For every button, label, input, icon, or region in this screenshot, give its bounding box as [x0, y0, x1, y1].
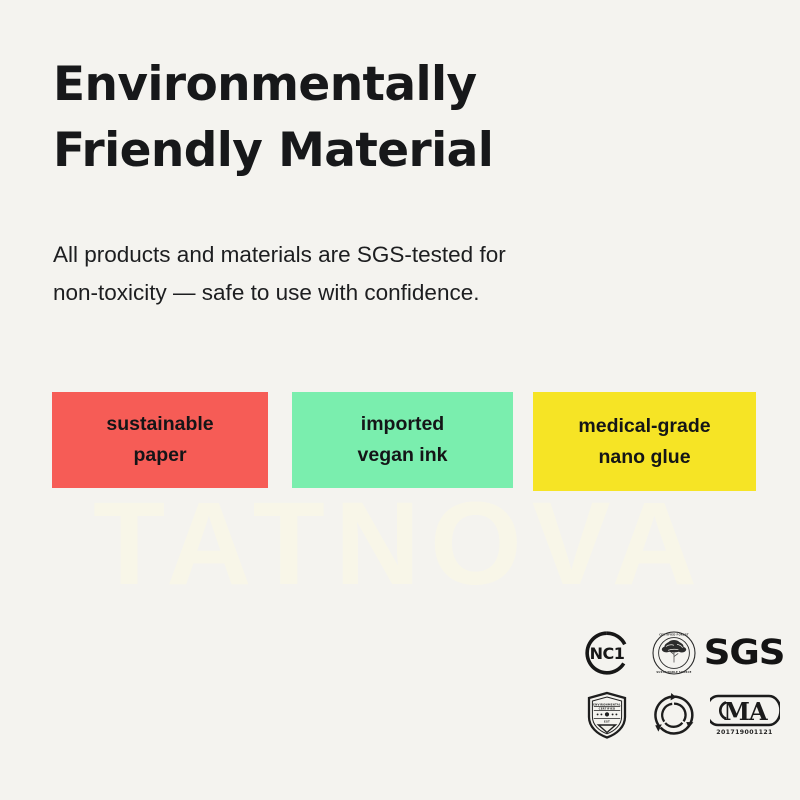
- svg-text:EST: EST: [604, 719, 610, 723]
- page-subtitle: All products and materials are SGS-teste…: [53, 236, 693, 312]
- sgs-wordmark-text: SGS: [704, 635, 785, 671]
- material-chip-label-line-1: medical-grade: [578, 411, 710, 442]
- material-chip-label-line-1: sustainable: [106, 409, 213, 440]
- forest-tree-seal-icon: CERTIFIED FOREST SUSTAINABLE SOURCE: [640, 623, 707, 683]
- certification-badge-group: NC1: [574, 623, 782, 747]
- cma-certification-mark-icon: MA 201719001121: [707, 683, 782, 747]
- svg-text:NC1: NC1: [590, 644, 625, 663]
- page-subtitle-line-1: All products and materials are SGS-teste…: [53, 236, 693, 274]
- sgs-wordmark-icon: SGS: [707, 623, 782, 683]
- svg-text:CERTIFIED: CERTIFIED: [599, 706, 616, 710]
- svg-text:MA: MA: [723, 697, 768, 726]
- material-chip-sustainable-paper: sustainable paper: [52, 392, 268, 488]
- svg-text:SUSTAINABLE SOURCE: SUSTAINABLE SOURCE: [656, 670, 691, 674]
- material-chip-label-line-1: imported: [358, 409, 448, 440]
- brand-watermark: TATNOVA: [0, 487, 800, 602]
- page-subtitle-line-2: non-toxicity — safe to use with confiden…: [53, 274, 693, 312]
- material-chip-medical-grade-nano-glue: medical-grade nano glue: [533, 392, 756, 491]
- poster-canvas: TATNOVA Environmentally Friendly Materia…: [0, 0, 800, 800]
- page-title-line-1: Environmentally: [53, 52, 733, 118]
- cma-certificate-number: 201719001121: [716, 729, 772, 736]
- material-chip-label-line-2: nano glue: [578, 442, 710, 473]
- svg-text:CERTIFIED FOREST: CERTIFIED FOREST: [659, 633, 689, 637]
- page-title-line-2: Friendly Material: [53, 118, 733, 184]
- shield-quality-badge-icon: ENVIRONMENTAL CERTIFIED EST: [574, 683, 640, 747]
- recycling-arrows-icon: [640, 683, 707, 747]
- svg-text:ENVIRONMENTAL: ENVIRONMENTAL: [593, 702, 621, 706]
- nc1-circle-mark-icon: NC1: [574, 623, 640, 683]
- material-chip-label-line-2: vegan ink: [358, 440, 448, 471]
- material-chip-label-line-2: paper: [106, 440, 213, 471]
- page-title: Environmentally Friendly Material: [53, 52, 733, 184]
- material-chip-imported-vegan-ink: imported vegan ink: [292, 392, 513, 488]
- material-chip-group: sustainable paper imported vegan ink med…: [52, 392, 756, 492]
